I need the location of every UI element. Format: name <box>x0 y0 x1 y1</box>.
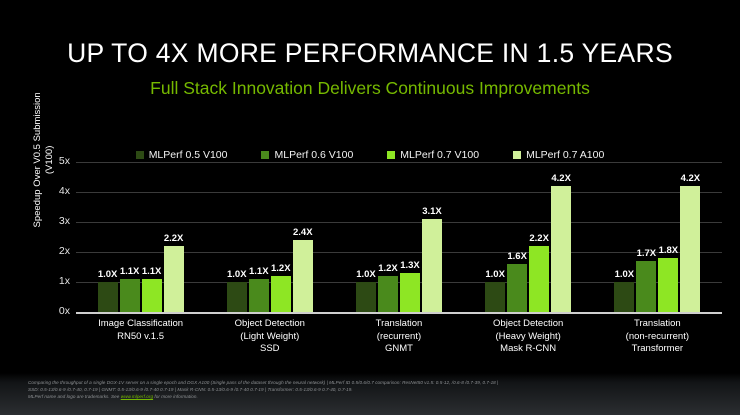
bar-value-label: 1.2X <box>378 263 398 274</box>
bar[interactable] <box>551 186 571 312</box>
x-axis-label-0: Image ClassificationRN50 v.1.5 <box>77 318 205 356</box>
bar-value-label: 2.4X <box>293 227 313 238</box>
bar-column: 4.2X <box>680 162 700 312</box>
bar-group-1: 1.0X1.1X1.2X2.4X <box>227 162 313 312</box>
bar-column: 4.2X <box>551 162 571 312</box>
x-axis-label-line: Translation <box>335 318 463 331</box>
x-axis-baseline <box>76 312 722 314</box>
bar[interactable] <box>98 282 118 312</box>
bar-value-label: 1.1X <box>142 266 162 277</box>
x-axis-label-line: (recurrent) <box>335 331 463 344</box>
mlperf-link[interactable]: www.mlperf.org <box>121 394 153 399</box>
bar-value-label: 1.7X <box>637 248 657 259</box>
bar-value-label: 2.2X <box>529 233 549 244</box>
bar-column: 1.7X <box>636 162 656 312</box>
y-axis-title-line2: (V100) <box>44 72 56 248</box>
bar-value-label: 1.3X <box>400 260 420 271</box>
bar-value-label: 1.8X <box>659 245 679 256</box>
bar-column: 1.0X <box>98 162 118 312</box>
bar[interactable] <box>164 246 184 312</box>
bar-column: 3.1X <box>422 162 442 312</box>
bar-column: 2.4X <box>293 162 313 312</box>
legend-item-0[interactable]: MLPerf 0.5 V100 <box>136 149 228 161</box>
legend-item-3[interactable]: MLPerf 0.7 A100 <box>513 149 604 161</box>
bar[interactable] <box>378 276 398 312</box>
footnote-band: Comparing the throughput of a single DGX… <box>0 373 740 415</box>
bar-value-label: 1.1X <box>249 266 269 277</box>
bar[interactable] <box>658 258 678 312</box>
bar-value-label: 1.0X <box>485 269 505 280</box>
footnote-line-3-post: for more information. <box>153 394 198 399</box>
x-axis-label-1: Object Detection(Light Weight)SSD <box>206 318 334 356</box>
y-axis-title-line1: Speedup Over V0.5 Submission <box>32 72 44 248</box>
bar-group-4: 1.0X1.7X1.8X4.2X <box>614 162 700 312</box>
chart-legend: MLPerf 0.5 V100MLPerf 0.6 V100MLPerf 0.7… <box>0 149 740 161</box>
x-axis-label-line: Object Detection <box>206 318 334 331</box>
bar-groups: 1.0X1.1X1.1X2.2X1.0X1.1X1.2X2.4X1.0X1.2X… <box>76 162 722 312</box>
footnote-line-1: Comparing the throughput of a single DGX… <box>28 379 726 386</box>
x-axis-label-3: Object Detection(Heavy Weight)Mask R-CNN <box>464 318 592 356</box>
bar-column: 1.2X <box>378 162 398 312</box>
legend-label: MLPerf 0.7 V100 <box>400 149 479 161</box>
footnote-text: Comparing the throughput of a single DGX… <box>28 379 726 400</box>
x-axis-label-2: Translation(recurrent)GNMT <box>335 318 463 356</box>
legend-swatch-icon <box>513 151 521 159</box>
bar[interactable] <box>120 279 140 312</box>
footnote-line-3: MLPerf name and logo are trademarks. See… <box>28 393 726 400</box>
x-axis-label-line: SSD <box>206 343 334 356</box>
bar-column: 1.6X <box>507 162 527 312</box>
legend-item-2[interactable]: MLPerf 0.7 V100 <box>387 149 479 161</box>
footnote-line-2: SSD: 0.5-13/0.6-9 /0.7-40, 0.7-19 | GNMT… <box>28 386 726 393</box>
bar[interactable] <box>422 219 442 312</box>
bar-group-0: 1.0X1.1X1.1X2.2X <box>98 162 184 312</box>
bar-group-2: 1.0X1.2X1.3X3.1X <box>356 162 442 312</box>
bar-column: 1.3X <box>400 162 420 312</box>
x-axis-label-line: (non-recurrent) <box>593 331 721 344</box>
bar[interactable] <box>271 276 291 312</box>
bar-value-label: 1.2X <box>271 263 291 274</box>
bar-column: 1.2X <box>271 162 291 312</box>
bar[interactable] <box>680 186 700 312</box>
x-axis-label-line: (Heavy Weight) <box>464 331 592 344</box>
y-axis-tick: 0x <box>44 305 70 317</box>
legend-swatch-icon <box>387 151 395 159</box>
bar[interactable] <box>249 279 269 312</box>
x-axis-label-line: RN50 v.1.5 <box>77 331 205 344</box>
bar-value-label: 4.2X <box>681 173 701 184</box>
bar[interactable] <box>529 246 549 312</box>
bar-column: 2.2X <box>529 162 549 312</box>
bar-column: 1.1X <box>249 162 269 312</box>
bar-value-label: 1.0X <box>356 269 376 280</box>
bar-value-label: 4.2X <box>551 173 571 184</box>
bar-column: 1.0X <box>485 162 505 312</box>
x-axis-label-line: Image Classification <box>77 318 205 331</box>
bar-value-label: 3.1X <box>422 206 442 217</box>
y-axis-tick: 1x <box>44 275 70 287</box>
bar-value-label: 1.0X <box>227 269 247 280</box>
x-axis-label-line: Mask R-CNN <box>464 343 592 356</box>
x-axis-label-line: GNMT <box>335 343 463 356</box>
bar[interactable] <box>227 282 247 312</box>
bar-column: 2.2X <box>164 162 184 312</box>
x-axis-label-line: Object Detection <box>464 318 592 331</box>
bar[interactable] <box>507 264 527 312</box>
x-axis-label-4: Translation(non-recurrent)Transformer <box>593 318 721 356</box>
footnote-line-3-pre: MLPerf name and logo are trademarks. See <box>28 394 121 399</box>
bar[interactable] <box>614 282 634 312</box>
page-subtitle: Full Stack Innovation Delivers Continuou… <box>0 78 740 99</box>
bar-column: 1.0X <box>227 162 247 312</box>
legend-label: MLPerf 0.5 V100 <box>149 149 228 161</box>
x-axis-category-labels: Image ClassificationRN50 v.1.5Object Det… <box>76 318 722 356</box>
legend-swatch-icon <box>136 151 144 159</box>
bar[interactable] <box>485 282 505 312</box>
bar[interactable] <box>400 273 420 312</box>
legend-label: MLPerf 0.7 A100 <box>526 149 604 161</box>
bar-column: 1.0X <box>356 162 376 312</box>
x-axis-label-line: (Light Weight) <box>206 331 334 344</box>
slide-root: UP TO 4X MORE PERFORMANCE IN 1.5 YEARS F… <box>0 0 740 415</box>
bar-column: 1.0X <box>614 162 634 312</box>
bar-value-label: 2.2X <box>164 233 184 244</box>
bar-value-label: 1.1X <box>120 266 140 277</box>
bar[interactable] <box>356 282 376 312</box>
legend-item-1[interactable]: MLPerf 0.6 V100 <box>261 149 353 161</box>
bar-value-label: 1.6X <box>507 251 527 262</box>
legend-swatch-icon <box>261 151 269 159</box>
bar-group-3: 1.0X1.6X2.2X4.2X <box>485 162 571 312</box>
bar[interactable] <box>142 279 162 312</box>
bar-column: 1.1X <box>120 162 140 312</box>
bar-value-label: 1.0X <box>615 269 635 280</box>
x-axis-label-line: Transformer <box>593 343 721 356</box>
bar-value-label: 1.0X <box>98 269 118 280</box>
bar[interactable] <box>293 240 313 312</box>
bar[interactable] <box>636 261 656 312</box>
bar-column: 1.1X <box>142 162 162 312</box>
x-axis-label-line: Translation <box>593 318 721 331</box>
y-axis-title: Speedup Over V0.5 Submission (V100) <box>32 72 56 248</box>
bar-column: 1.8X <box>658 162 678 312</box>
legend-label: MLPerf 0.6 V100 <box>274 149 353 161</box>
page-title: UP TO 4X MORE PERFORMANCE IN 1.5 YEARS <box>0 38 740 69</box>
